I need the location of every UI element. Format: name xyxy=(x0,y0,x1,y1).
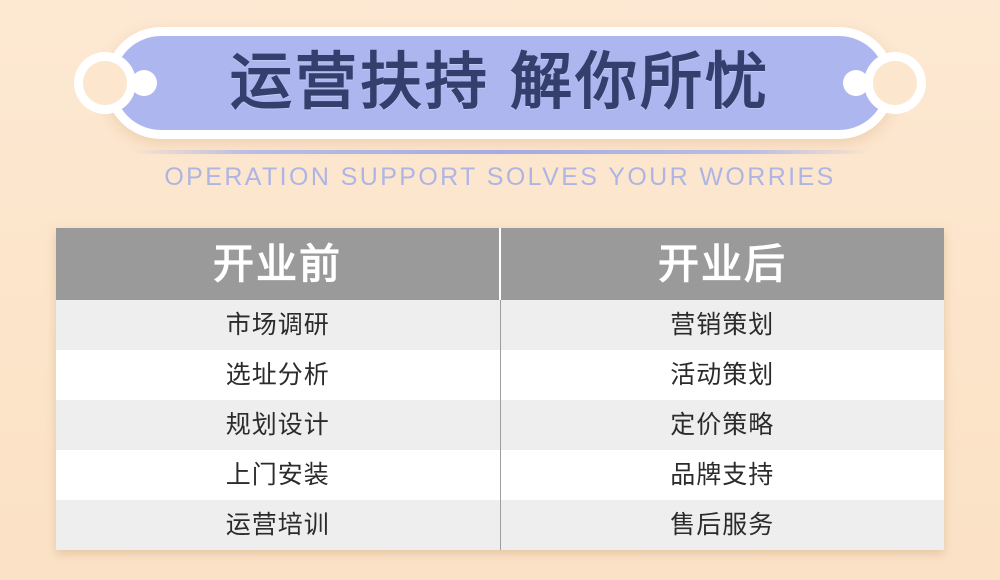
title-banner-wrapper: 运营扶持 解你所忧 xyxy=(0,27,1000,139)
table-cell-before: 规划设计 xyxy=(56,400,500,450)
table-row: 规划设计 定价策略 xyxy=(56,400,944,450)
table-cell-after: 定价策略 xyxy=(500,400,945,450)
table-row: 选址分析 活动策划 xyxy=(56,350,944,400)
page-subtitle: OPERATION SUPPORT SOLVES YOUR WORRIES xyxy=(0,163,1000,192)
page-title: 运营扶持 解你所忧 xyxy=(105,27,895,139)
table-row: 上门安装 品牌支持 xyxy=(56,450,944,500)
table-cell-after: 品牌支持 xyxy=(500,450,945,500)
table-cell-after: 活动策划 xyxy=(500,350,945,400)
table-row: 运营培训 售后服务 xyxy=(56,500,944,550)
table-header-row: 开业前 开业后 xyxy=(56,228,944,300)
table-cell-before: 市场调研 xyxy=(56,300,500,350)
table-row: 市场调研 营销策划 xyxy=(56,300,944,350)
table-cell-after: 营销策划 xyxy=(500,300,945,350)
table-header-cell-after: 开业后 xyxy=(499,228,944,300)
title-banner: 运营扶持 解你所忧 xyxy=(105,27,895,139)
title-divider xyxy=(130,150,870,154)
table-cell-after: 售后服务 xyxy=(500,500,945,550)
comparison-table: 开业前 开业后 市场调研 营销策划 选址分析 活动策划 规划设计 定价策略 上门… xyxy=(56,228,944,550)
poster-root: 运营扶持 解你所忧 OPERATION SUPPORT SOLVES YOUR … xyxy=(0,0,1000,580)
table-header-cell-before: 开业前 xyxy=(56,228,499,300)
table-cell-before: 选址分析 xyxy=(56,350,500,400)
table-cell-before: 上门安装 xyxy=(56,450,500,500)
table-cell-before: 运营培训 xyxy=(56,500,500,550)
